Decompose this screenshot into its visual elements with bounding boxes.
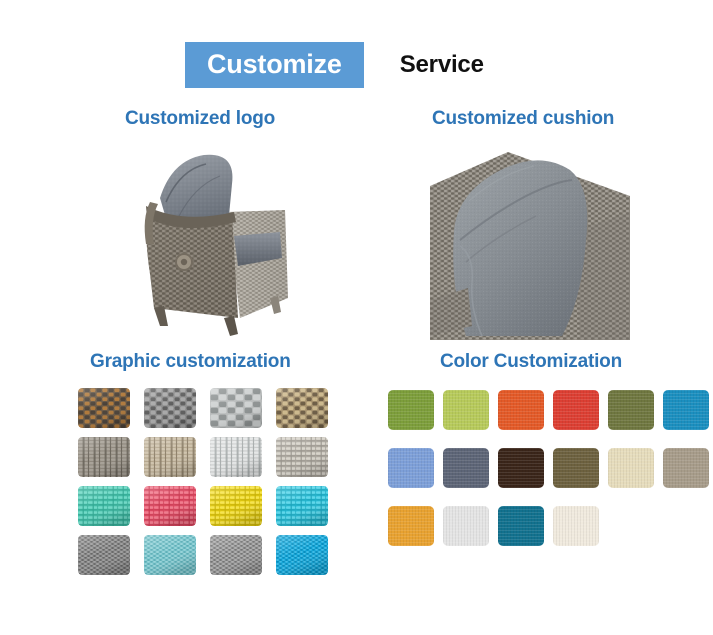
fabric-texture-icon	[608, 390, 654, 430]
weave-texture-icon	[78, 437, 130, 477]
fabric-texture-icon	[498, 448, 544, 488]
fabric-texture-icon	[498, 390, 544, 430]
weave-swatch-brown-multitone-flat-weave[interactable]	[78, 388, 130, 428]
graphic-customization-swatch-grid	[78, 388, 328, 575]
weave-texture-icon	[276, 388, 328, 428]
weave-swatch-tan-beige-flat-weave[interactable]	[276, 388, 328, 428]
weave-swatch-gray-taupe-open-weave[interactable]	[78, 437, 130, 477]
section-title-graphic-customization: Graphic customization	[90, 351, 291, 373]
tab-customize[interactable]: Customize	[185, 42, 364, 88]
fabric-texture-icon	[608, 448, 654, 488]
color-swatch-dark-brown[interactable]	[498, 448, 544, 488]
color-swatch-cream-beige[interactable]	[608, 448, 654, 488]
weave-swatch-khaki-beige-open-weave[interactable]	[144, 437, 196, 477]
weave-swatch-light-teal-fine-weave[interactable]	[144, 535, 196, 575]
weave-texture-icon	[210, 486, 262, 526]
weave-texture-icon	[78, 388, 130, 428]
weave-swatch-light-gray-wide-weave[interactable]	[210, 388, 262, 428]
fabric-texture-icon	[498, 506, 544, 546]
color-swatch-olive-brown[interactable]	[553, 448, 599, 488]
weave-swatch-cyan-turquoise-rope-weave[interactable]	[276, 486, 328, 526]
fabric-texture-icon	[388, 390, 434, 430]
color-swatch-dark-olive[interactable]	[608, 390, 654, 430]
color-swatch-slate-gray-blue[interactable]	[443, 448, 489, 488]
color-swatch-light-lime-green[interactable]	[443, 390, 489, 430]
fabric-texture-icon	[443, 390, 489, 430]
weave-swatch-white-gray-open-weave[interactable]	[210, 437, 262, 477]
section-title-customized-logo: Customized logo	[125, 108, 275, 130]
color-swatch-olive-green[interactable]	[388, 390, 434, 430]
fabric-texture-icon	[443, 506, 489, 546]
weave-texture-icon	[144, 535, 196, 575]
color-customization-swatch-grid	[388, 390, 678, 546]
fabric-texture-icon	[663, 390, 709, 430]
color-swatch-amber-orange[interactable]	[388, 506, 434, 546]
weave-texture-icon	[210, 535, 262, 575]
color-swatch-ivory-cream[interactable]	[553, 506, 599, 546]
weave-swatch-gray-silver-fine-weave[interactable]	[210, 535, 262, 575]
fabric-texture-icon	[553, 448, 599, 488]
weave-texture-icon	[276, 437, 328, 477]
weave-texture-icon	[144, 486, 196, 526]
fabric-texture-icon	[443, 448, 489, 488]
weave-texture-icon	[276, 486, 328, 526]
weave-swatch-dark-gray-fine-weave[interactable]	[78, 535, 130, 575]
tab-service[interactable]: Service	[400, 51, 484, 79]
weave-swatch-light-gray-tan-open-weave[interactable]	[276, 437, 328, 477]
color-swatch-teal-blue[interactable]	[498, 506, 544, 546]
fabric-texture-icon	[553, 390, 599, 430]
fabric-texture-icon	[388, 506, 434, 546]
product-photo-recliner-chair	[120, 140, 320, 340]
weave-texture-icon	[276, 535, 328, 575]
weave-texture-icon	[144, 388, 196, 428]
weave-swatch-medium-gray-flat-weave[interactable]	[144, 388, 196, 428]
weave-texture-icon	[144, 437, 196, 477]
weave-texture-icon	[78, 535, 130, 575]
fabric-texture-icon	[388, 448, 434, 488]
weave-swatch-pink-red-rope-weave[interactable]	[144, 486, 196, 526]
color-swatch-red[interactable]	[553, 390, 599, 430]
color-swatch-light-periwinkle-blue[interactable]	[388, 448, 434, 488]
weave-texture-icon	[210, 388, 262, 428]
weave-texture-icon	[78, 486, 130, 526]
color-swatch-blue[interactable]	[663, 390, 709, 430]
weave-texture-icon	[210, 437, 262, 477]
weave-swatch-bright-blue-fine-weave[interactable]	[276, 535, 328, 575]
product-photo-cushion-closeup	[430, 140, 630, 340]
section-title-customized-cushion: Customized cushion	[432, 108, 614, 130]
color-swatch-orange[interactable]	[498, 390, 544, 430]
weave-swatch-yellow-rope-weave[interactable]	[210, 486, 262, 526]
tab-bar: Customize Service	[0, 38, 713, 92]
color-swatch-taupe-gray[interactable]	[663, 448, 709, 488]
weave-swatch-mint-teal-rope-weave[interactable]	[78, 486, 130, 526]
color-swatch-white-gray[interactable]	[443, 506, 489, 546]
section-title-color-customization: Color Customization	[440, 351, 622, 373]
fabric-texture-icon	[663, 448, 709, 488]
fabric-texture-icon	[553, 506, 599, 546]
